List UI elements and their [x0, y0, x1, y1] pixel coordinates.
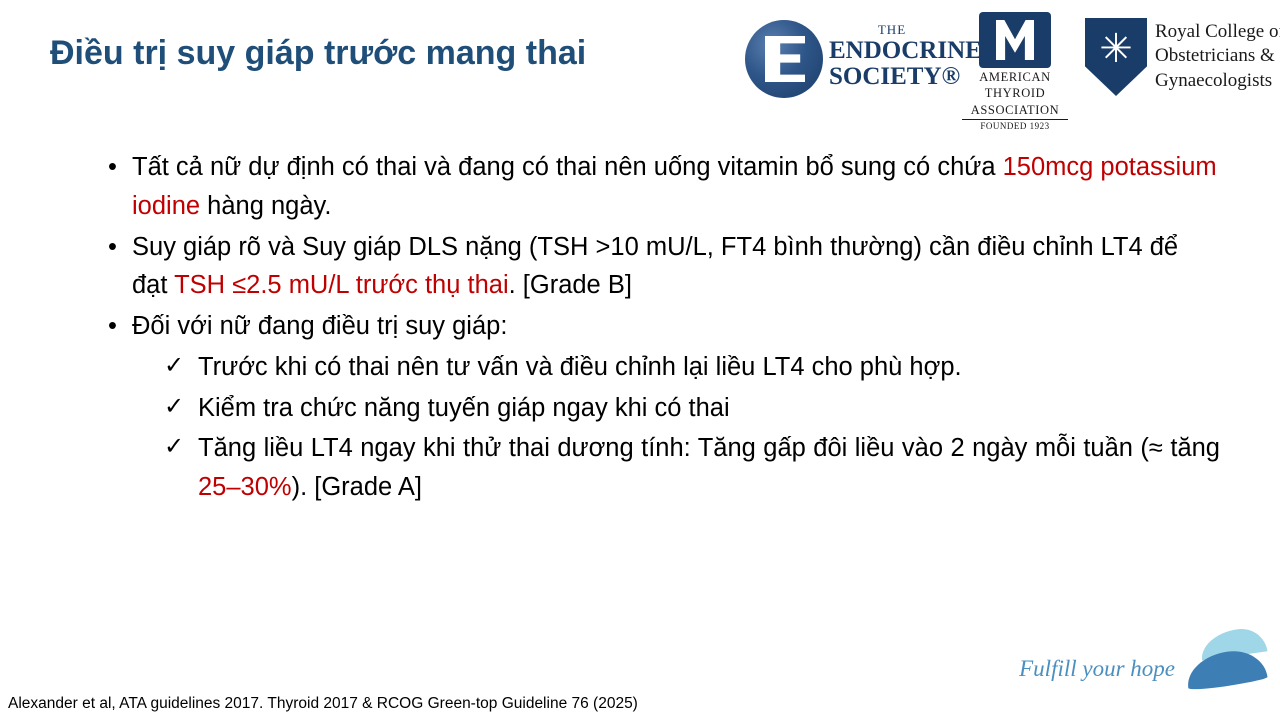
rcog-line-3: Gynaecologists [1155, 69, 1280, 93]
bullet-text-2-0: Đối với nữ đang điều trị suy giáp: [132, 312, 507, 340]
sub-item: ✓ Kiểm tra chức năng tuyến giáp ngay khi… [160, 389, 1220, 428]
bullet-text-0-0: Tất cả nữ dự định có thai và đang có tha… [132, 153, 1003, 181]
endocrine-society-wordmark: THE ENDOCRINE SOCIETY® [829, 22, 955, 91]
bullet-marker: • [108, 228, 117, 267]
rcog-shield-icon: ✳ [1085, 18, 1147, 96]
sub-text-2-0: Tăng liều LT4 ngay khi thử thai dương tí… [198, 434, 1220, 462]
bullet-item: • Đối với nữ đang điều trị suy giáp: [100, 307, 1220, 346]
endocrine-society-logo: THE ENDOCRINE SOCIETY® [745, 18, 955, 103]
sub-text-2-2: ). [Grade A] [292, 473, 422, 501]
sub-text-0-0: Trước khi có thai nên tư vấn và điều chỉ… [198, 353, 962, 381]
check-icon: ✓ [164, 388, 184, 425]
rcog-line-1: Royal College of [1155, 20, 1280, 44]
endocrine-line-1: THE [829, 22, 955, 38]
brand-tagline: Fulfill your hope [1019, 656, 1175, 682]
american-thyroid-association-logo: AMERICAN THYROID ASSOCIATION FOUNDED 192… [950, 12, 1080, 134]
rcog-line-2: Obstetricians & [1155, 44, 1280, 68]
rcog-wordmark: Royal College of Obstetricians & Gynaeco… [1155, 20, 1280, 93]
ata-emblem-icon [979, 12, 1051, 68]
sub-text-1-0: Kiểm tra chức năng tuyến giáp ngay khi c… [198, 394, 730, 422]
citation-footer: Alexander et al, ATA guidelines 2017. Th… [8, 695, 638, 713]
bullet-text-0-2: hàng ngày. [200, 192, 331, 220]
bullet-item: • Tất cả nữ dự định có thai và đang có t… [100, 148, 1220, 226]
endocrine-line-3: SOCIETY® [829, 64, 955, 90]
bullet-marker: • [108, 307, 117, 346]
rcog-star-icon: ✳ [1095, 28, 1137, 70]
sub-item: ✓ Tăng liều LT4 ngay khi thử thai dương … [160, 429, 1220, 507]
bullet-item: • Suy giáp rõ và Suy giáp DLS nặng (TSH … [100, 228, 1220, 306]
page-title: Điều trị suy giáp trước mang thai [50, 34, 586, 73]
sub-item: ✓ Trước khi có thai nên tư vấn và điều c… [160, 348, 1220, 387]
ata-line-2: THYROID [950, 86, 1080, 100]
rcog-logo: ✳ Royal College of Obstetricians & Gynae… [1085, 18, 1275, 118]
bullet-text-1-2: . [Grade B] [509, 271, 632, 299]
bullet-marker: • [108, 148, 117, 187]
slide-body: • Tất cả nữ dự định có thai và đang có t… [100, 148, 1220, 509]
sub-text-2-1: 25–30% [198, 473, 292, 501]
slide: Điều trị suy giáp trước mang thai THE EN… [0, 0, 1280, 720]
logo-group: THE ENDOCRINE SOCIETY® AMERICAN THYROID … [745, 10, 1270, 135]
leaf-logo-icon [1182, 630, 1268, 692]
endocrine-line-2: ENDOCRINE [829, 38, 955, 64]
ata-founded-label: FOUNDED 1923 [962, 119, 1068, 131]
bullet-text-1-1: TSH ≤2.5 mU/L trước thụ thai [174, 271, 509, 299]
check-icon: ✓ [164, 347, 184, 384]
leaf-bottom-shape [1184, 647, 1268, 692]
ata-line-3: ASSOCIATION [950, 103, 1080, 117]
ata-line-1: AMERICAN [950, 70, 1080, 84]
check-icon: ✓ [164, 428, 184, 465]
endocrine-emblem-icon [745, 20, 823, 98]
